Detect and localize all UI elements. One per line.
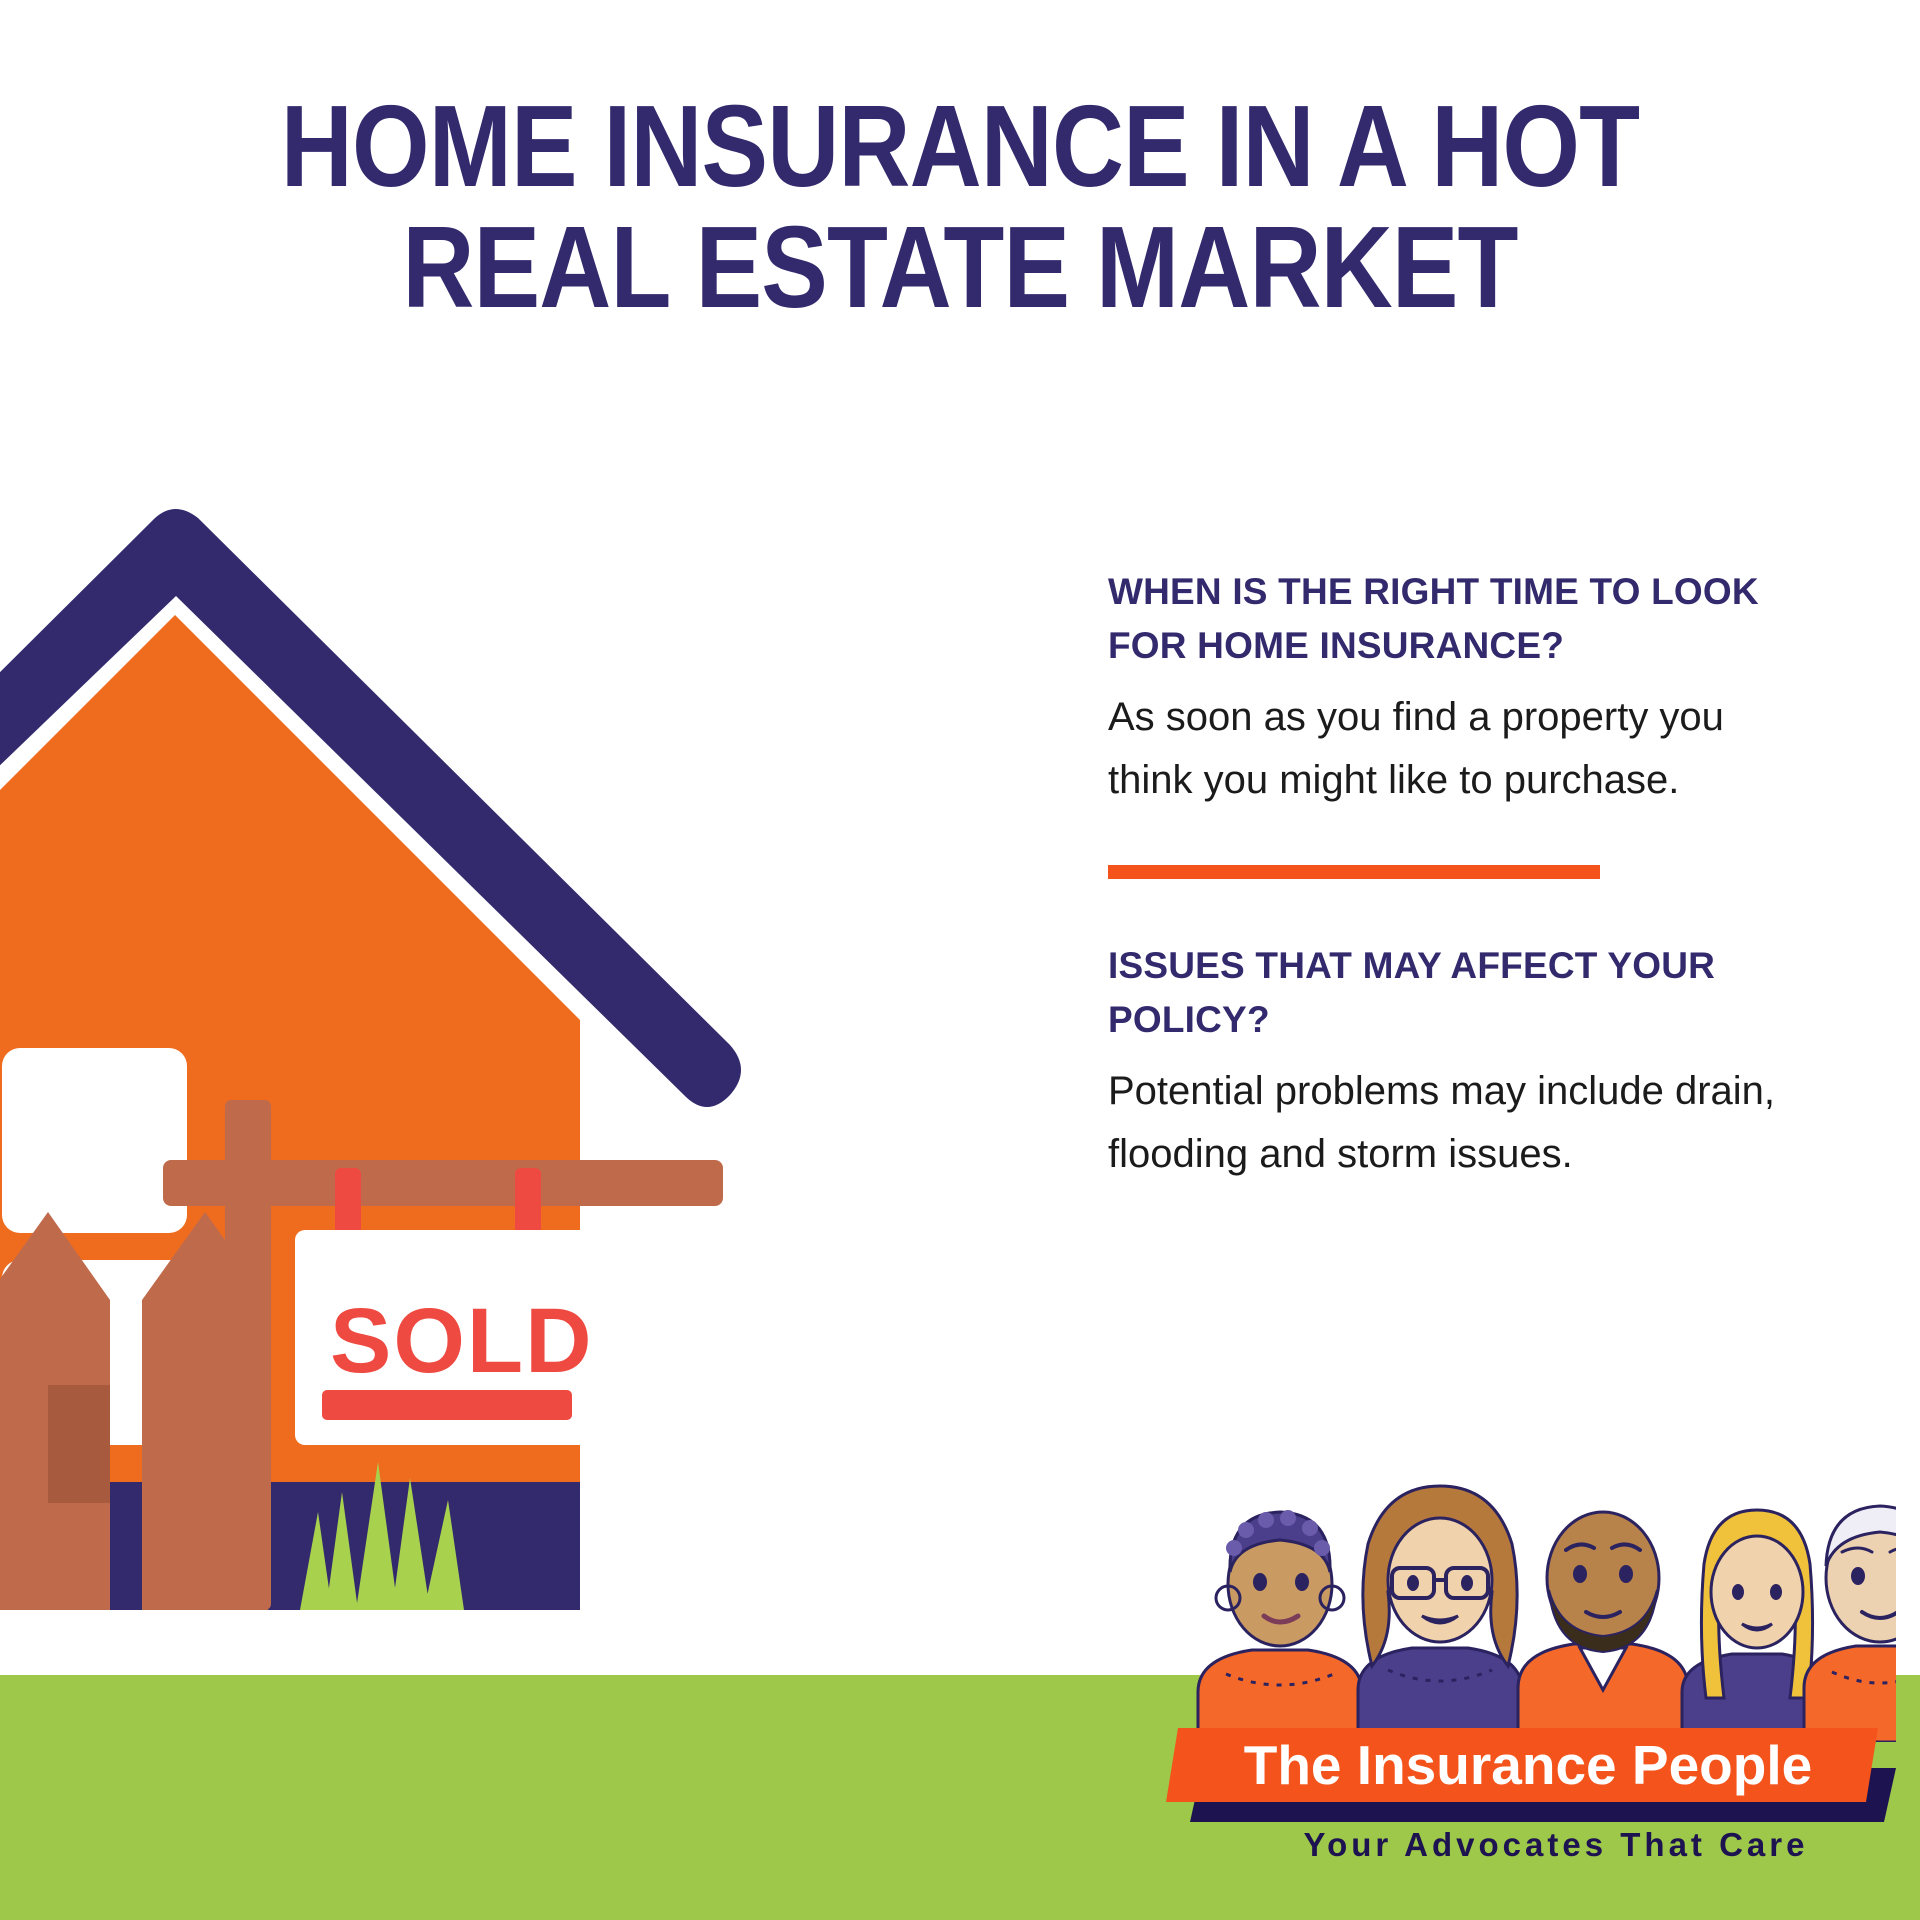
- section-body: As soon as you find a property you think…: [1108, 686, 1798, 811]
- section-divider: [1108, 865, 1600, 879]
- window-pane-icon: [2, 1048, 187, 1233]
- logo-brand-text: The Insurance People: [1244, 1734, 1813, 1796]
- section-policy-issues: ISSUES THAT MAY AFFECT YOUR POLICY? Pote…: [1108, 939, 1798, 1185]
- title-line-2: REAL ESTATE MARKET: [134, 207, 1785, 328]
- section-heading: ISSUES THAT MAY AFFECT YOUR POLICY?: [1108, 939, 1798, 1046]
- page-title: HOME INSURANCE IN A HOT REAL ESTATE MARK…: [0, 86, 1920, 327]
- content-column: WHEN IS THE RIGHT TIME TO LOOK FOR HOME …: [1108, 565, 1798, 1185]
- person-5-icon: [1804, 1506, 1896, 1742]
- sign-underbar-icon: [322, 1390, 572, 1420]
- logo-tagline-text: Your Advocates That Care: [1304, 1826, 1809, 1863]
- person-1-icon: [1198, 1510, 1362, 1742]
- section-heading: WHEN IS THE RIGHT TIME TO LOOK FOR HOME …: [1108, 565, 1798, 672]
- house-illustration: SOLD: [0, 400, 870, 1700]
- section-when-to-look: WHEN IS THE RIGHT TIME TO LOOK FOR HOME …: [1108, 565, 1798, 811]
- sold-sign-label: SOLD: [330, 1290, 594, 1392]
- person-2-icon: [1358, 1486, 1522, 1742]
- person-3-icon: [1518, 1512, 1688, 1742]
- title-line-1: HOME INSURANCE IN A HOT: [134, 86, 1785, 207]
- sign-crossbar-icon: [163, 1160, 723, 1206]
- people-group-icon: [1198, 1486, 1896, 1742]
- section-body: Potential problems may include drain, fl…: [1108, 1060, 1798, 1185]
- company-logo[interactable]: The Insurance People Your Advocates That…: [1156, 1452, 1896, 1882]
- infographic-canvas: HOME INSURANCE IN A HOT REAL ESTATE MARK…: [0, 0, 1920, 1920]
